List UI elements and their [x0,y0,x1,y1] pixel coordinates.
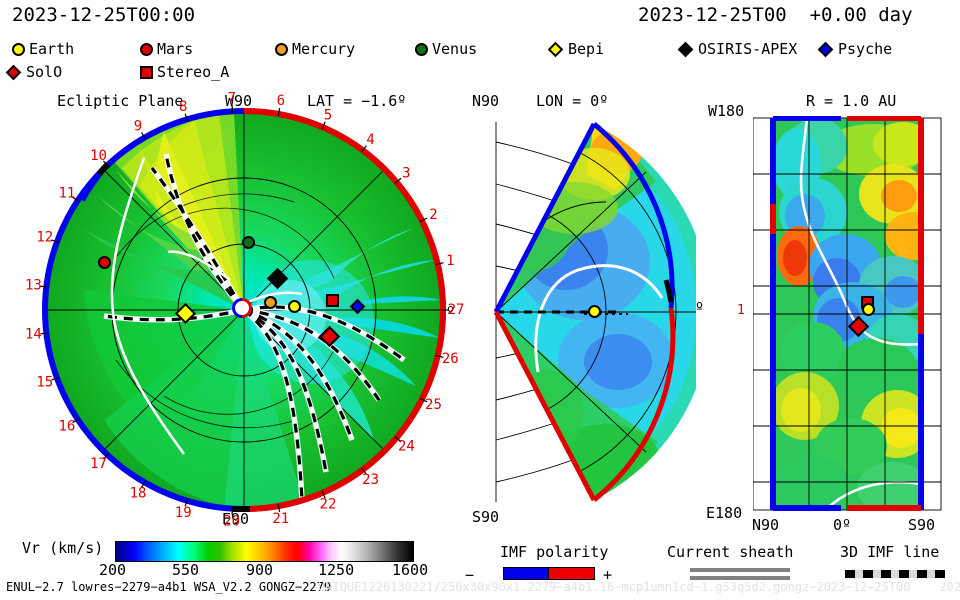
left-panel-bottom-label: E90 [222,512,249,527]
footer-model-string: ENUL−2.7 lowres−2279−a4b1 WSA_V2.2 GONGZ… [6,581,331,593]
right-panel-top-label: W180 [708,104,744,119]
left-panel-tick-label: 3 [402,166,410,182]
legend-item-mercury: Mercury [275,40,355,58]
legend-label: Earth [29,40,74,58]
imf-line-3d-title: 3D IMF line [840,545,939,560]
legend-label: Bepi [568,40,604,58]
imf-line-3d-swatch [845,570,945,578]
earth-marker-icon [12,43,25,56]
right-panel-bottom-label: E180 [706,506,742,521]
legend-item-psyche: Psyche [820,40,892,58]
current-sheath-swatch [690,568,790,580]
colorbar-gradient[interactable] [115,541,414,562]
venus-marker-icon [415,43,428,56]
right-panel-x-label-s90: S90 [908,518,935,533]
mars-marker-icon [140,43,153,56]
mercury-marker-ecliptic [264,296,277,309]
right-panel-x-label-0: 0º [833,518,851,533]
middle-panel-title: LON = 0º [536,94,608,109]
left-panel-tick-label: 24 [398,438,415,454]
legend-item-venus: Venus [415,40,477,58]
datetime-right: 2023-12-25T00 +0.00 day [638,6,913,25]
mars-marker-ecliptic [98,256,111,269]
left-panel-tick-label: 13 [25,277,42,293]
datetime-left: 2023-12-25T00:00 [12,6,195,25]
colorbar-tick-3: 1250 [318,563,354,578]
left-panel-tick-label: 23 [362,472,379,488]
left-panel-tick-label: 17 [90,456,107,472]
legend-item-bepi: Bepi [550,40,604,58]
right-panel-title: R = 1.0 AU [806,94,896,109]
left-panel-tick-label: 14 [25,327,42,343]
sun-marker-icon [230,296,254,320]
legend-label: Mars [157,40,193,58]
left-panel-tick-label: 21 [272,511,289,527]
venus-marker-ecliptic [242,236,255,249]
mercury-marker-icon [275,43,288,56]
colorbar-tick-2: 900 [246,563,273,578]
polarity-swatch-negative [503,567,550,580]
meridional-plane-plot [466,112,696,512]
legend-item-mars: Mars [140,40,193,58]
earth-marker-meridional [588,305,601,318]
legend-item-osiris-apex: OSIRIS-APEX [680,40,797,58]
middle-panel-bottom-label: S90 [472,510,499,525]
footer-watermark: UNIQUE1226130221/256x30x90x1.2279−a4b1.1… [318,581,960,593]
legend-label: Mercury [292,40,355,58]
colorbar-label: Vr (km/s) [22,541,103,556]
left-panel-top-label: W90 [225,94,252,109]
right-panel-x-label-n90: N90 [752,518,779,533]
left-panel-tick-label: 22 [320,497,337,513]
left-panel-tick-label: 15 [36,375,53,391]
stereo-a-marker-icon [140,66,153,79]
psyche-marker-icon [818,41,834,57]
solo-marker-icon [6,64,22,80]
legend-label: Psyche [838,40,892,58]
left-panel-tick-label: 2 [429,207,437,223]
colorbar-tick-4: 1600 [392,563,428,578]
left-panel-tick-label: 6 [277,93,285,109]
colorbar-tick-1: 550 [172,563,199,578]
stereo-a-marker-ecliptic [326,294,339,307]
legend-label: Venus [432,40,477,58]
left-panel-tick-label: 4 [366,132,374,148]
constant-radius-shell-plot [753,116,953,512]
legend-label: Stereo_A [157,63,229,81]
current-sheath-title: Current sheath [667,545,793,560]
earth-marker-ecliptic [288,300,301,313]
left-panel-tick-label: 11 [58,186,75,202]
left-panel-tick-label: 18 [130,486,147,502]
visualization-root: 2023-12-25T00:00 2023-12-25T00 +0.00 day… [0,0,960,600]
bepi-marker-icon [548,41,564,57]
left-panel-title: Ecliptic Plane [57,94,183,109]
osiris-apex-marker-icon [678,41,694,57]
left-panel-tick-label: 9 [134,118,142,134]
left-panel-tick-label: 19 [175,505,192,521]
legend-label: SolO [26,63,62,81]
imf-polarity-title: IMF polarity [500,545,608,560]
left-panel-tick-label: 25 [425,397,442,413]
middle-panel-top-label: N90 [472,94,499,109]
colorbar-tick-0: 200 [99,563,126,578]
left-panel-tick-label: 1 [446,253,454,269]
left-panel-tick-label: 16 [58,418,75,434]
left-panel-tick-label: 26 [442,351,459,367]
left-panel-annotation: LAT = −1.6º [307,94,406,109]
polarity-swatch-positive [548,567,595,580]
left-panel-tick-label: 10 [90,148,107,164]
left-panel-tick-label: 12 [36,229,53,245]
legend-item-stereo-a: Stereo_A [140,63,229,81]
legend-item-earth: Earth [12,40,74,58]
right-panel-y-tick: 1 [737,304,745,317]
legend-item-solo: SolO [8,63,62,81]
legend-label: OSIRIS-APEX [698,40,797,58]
earth-marker-shell [862,303,875,316]
